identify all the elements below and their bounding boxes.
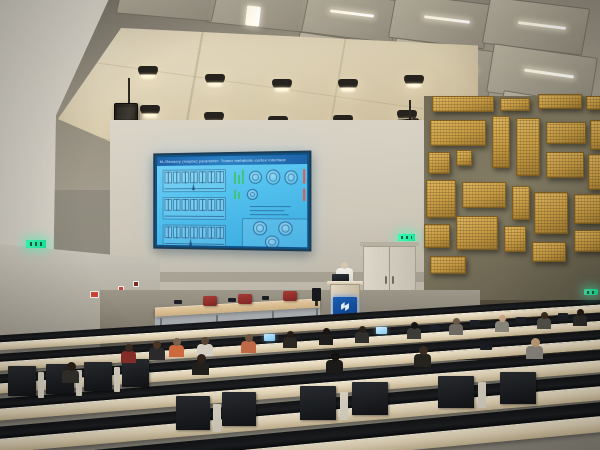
slide-network-graph xyxy=(266,169,280,184)
slide-network-graph xyxy=(247,189,258,200)
slide-green-bar xyxy=(242,170,244,184)
ceiling-downlight xyxy=(138,66,158,78)
ceiling-downlight xyxy=(205,74,225,86)
acoustic-panel xyxy=(462,182,506,208)
presentation-slide: M-/Sensory (maybe) parameter: Tumor meta… xyxy=(157,155,307,248)
acoustic-panel xyxy=(426,180,456,218)
slide-waveform-cells xyxy=(164,171,224,183)
audience-laptop xyxy=(376,327,387,334)
slide-waveform-cells xyxy=(164,226,224,239)
foreground-seat[interactable] xyxy=(438,376,474,408)
foreground-seat[interactable] xyxy=(500,372,536,404)
slide-green-bar xyxy=(234,172,236,184)
presenter-head xyxy=(341,262,348,269)
acoustic-panel xyxy=(430,120,486,146)
acoustic-panel xyxy=(432,96,494,112)
foreground-seat[interactable] xyxy=(84,362,112,391)
notice-sign xyxy=(133,281,139,287)
acoustic-panel xyxy=(512,186,530,220)
acoustic-panel xyxy=(588,154,600,190)
ceiling-light-strip xyxy=(245,5,261,26)
seat-post xyxy=(340,392,348,420)
acoustic-panel xyxy=(590,120,600,150)
foreground-seat[interactable] xyxy=(300,386,336,420)
acoustic-panel xyxy=(546,122,586,144)
acoustic-panel xyxy=(538,94,582,109)
acoustic-panel xyxy=(428,152,450,174)
slide-network-graph xyxy=(249,171,262,184)
acoustic-panel xyxy=(430,256,466,274)
seat-post xyxy=(114,367,120,392)
slide-green-bar xyxy=(234,190,236,199)
slide-legend-line xyxy=(250,214,289,215)
audience-laptop xyxy=(558,313,568,319)
acoustic-panel xyxy=(546,152,584,178)
slide-red-bar xyxy=(303,169,305,183)
ceiling-downlight xyxy=(272,79,292,91)
slide-inset-graph xyxy=(278,221,292,235)
ceiling-downlight xyxy=(338,79,358,91)
door-handle[interactable] xyxy=(392,276,394,284)
audience-laptop xyxy=(470,320,480,326)
projection-screen[interactable]: M-/Sensory (maybe) parameter: Tumor meta… xyxy=(153,150,311,251)
audience-laptop xyxy=(264,334,275,341)
slide-green-bar xyxy=(238,192,240,199)
acoustic-panel xyxy=(424,224,450,248)
foreground-seat[interactable] xyxy=(122,359,149,387)
exit-sign-left xyxy=(26,240,46,248)
acoustic-panel xyxy=(516,118,540,176)
foreground-seat[interactable] xyxy=(222,392,256,426)
acoustic-panel xyxy=(574,194,600,224)
seat-post xyxy=(478,382,486,408)
slide-green-bar xyxy=(238,175,240,184)
slide-title: M-/Sensory (maybe) parameter: Tumor meta… xyxy=(157,155,307,166)
audience-laptop xyxy=(516,317,526,323)
foreground-seat[interactable] xyxy=(176,396,210,430)
exit-sign-right xyxy=(584,289,598,295)
slide-red-bar xyxy=(303,189,305,201)
exit-sign-center xyxy=(398,234,415,241)
audience-laptop xyxy=(430,325,440,331)
ceiling-downlight xyxy=(140,105,160,117)
slide-legend-line xyxy=(250,210,285,211)
door-handle[interactable] xyxy=(385,276,387,284)
seat-post xyxy=(213,404,221,432)
speaker-mount-rod xyxy=(128,78,130,106)
acoustic-panel xyxy=(574,230,600,252)
lecture-hall-photo: M-/Sensory (maybe) parameter: Tumor meta… xyxy=(0,0,600,450)
fire-extinguisher-sign xyxy=(90,291,99,298)
slide-inset-graph xyxy=(253,221,267,235)
foreground-seat[interactable] xyxy=(8,366,36,396)
slide-inset-graph xyxy=(265,235,279,247)
acoustic-panel xyxy=(500,98,530,111)
acoustic-panel xyxy=(492,116,510,168)
foreground-seat[interactable] xyxy=(352,382,388,415)
audience-laptop xyxy=(480,343,492,350)
acoustic-panel xyxy=(504,226,526,252)
acoustic-panel xyxy=(586,96,600,110)
acoustic-panel xyxy=(532,242,566,262)
slide-legend-line xyxy=(250,206,291,207)
slide-network-graph xyxy=(284,170,297,184)
seat-post xyxy=(38,372,44,398)
acoustic-panel xyxy=(534,192,568,234)
acoustic-panel xyxy=(456,216,498,250)
slide-waveform-cells xyxy=(164,199,224,211)
ceiling-downlight xyxy=(404,75,424,87)
acoustic-panel xyxy=(456,150,472,166)
